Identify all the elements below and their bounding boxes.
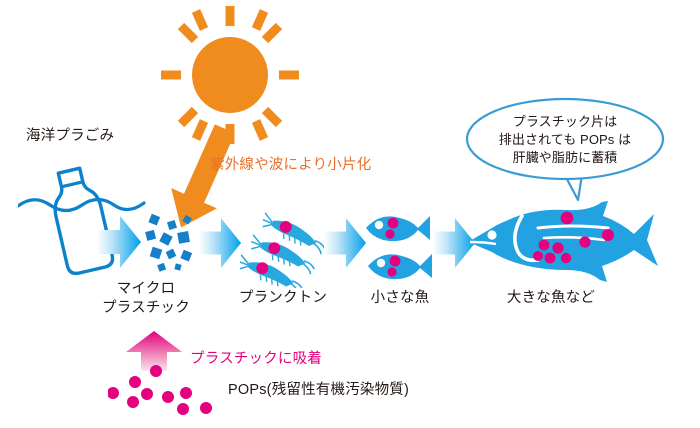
pops-full-name-label: POPs(残留性有機汚染物質) xyxy=(228,378,409,399)
callout-line-2: 排出されても POPs は xyxy=(470,131,660,149)
stage-label-big-fish: 大きな魚など xyxy=(496,289,606,308)
stage-label-microplastic: マイクロ プラスチック xyxy=(98,280,194,318)
callout-line-3: 肝臓や脂肪に蓄積 xyxy=(470,149,660,167)
page-title: 海洋プラごみ xyxy=(26,127,114,146)
stage-label-plankton: プランクトン xyxy=(228,289,338,308)
marine-plastic-foodchain-diagram: 紫外線や波により小片化 海洋プラごみ xyxy=(0,0,700,428)
callout-line-1: プラスチック片は xyxy=(470,113,660,131)
pops-particles-icon xyxy=(108,364,218,416)
plankton-krill-icon xyxy=(240,208,336,288)
uv-fragmentation-label: 紫外線や波により小片化 xyxy=(210,153,371,174)
microplastic-fragments-icon xyxy=(142,212,204,274)
water-wave-icon xyxy=(18,200,144,211)
small-fish-icon xyxy=(362,210,440,286)
blue-right-arrow-icon xyxy=(198,215,242,271)
blue-right-arrow-icon xyxy=(96,213,142,271)
blue-right-arrow-icon xyxy=(323,215,367,271)
stage-label-small-fish: 小さな魚 xyxy=(355,289,445,308)
